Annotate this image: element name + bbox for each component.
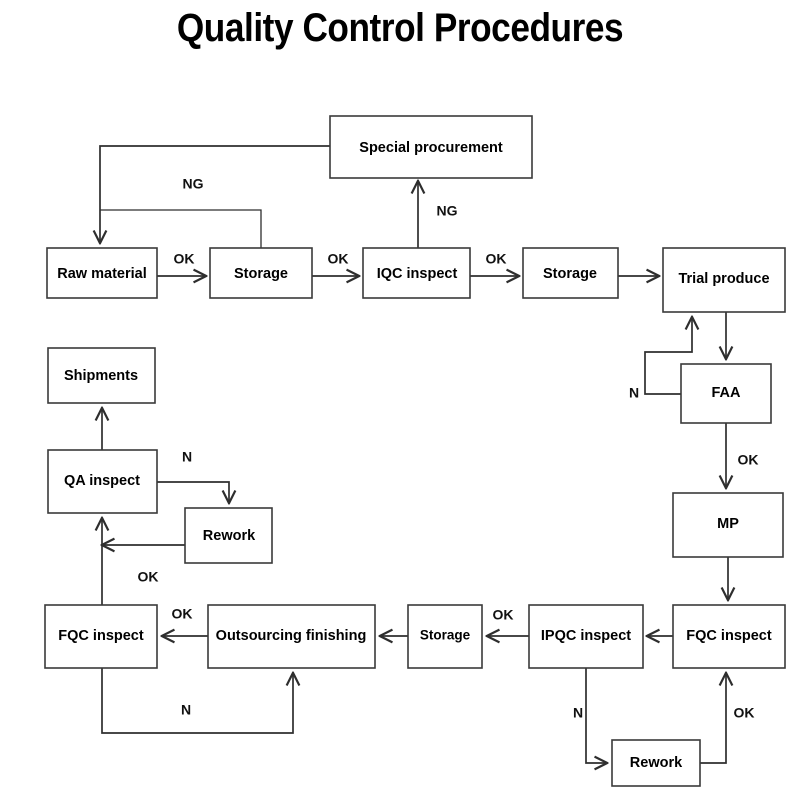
- flowchart-canvas: Special procurement Raw material Storage…: [0, 0, 800, 800]
- edge-label-ok-fqcleft-qa: OK: [138, 569, 159, 585]
- node-label-faa: FAA: [712, 385, 742, 401]
- edge-label-ok-iqc-storage2: OK: [486, 251, 507, 267]
- node-label-rework-left: Rework: [203, 528, 256, 544]
- node-label-trial-produce: Trial produce: [678, 271, 769, 287]
- node-label-ipqc-inspect: IPQC inspect: [541, 628, 631, 644]
- node-fqc-inspect-left[interactable]: FQC inspect: [45, 605, 157, 668]
- node-label-raw-material: Raw material: [57, 266, 146, 282]
- node-label-qa-inspect: QA inspect: [64, 473, 140, 489]
- node-qa-inspect[interactable]: QA inspect: [48, 450, 157, 513]
- node-special-procurement[interactable]: Special procurement: [330, 116, 532, 178]
- edge-label-n-fqcleft-outsourcing: N: [181, 702, 191, 718]
- edge-storage-to-raw-material-ng: [100, 210, 261, 248]
- node-label-shipments: Shipments: [64, 368, 138, 384]
- node-rework-left[interactable]: Rework: [185, 508, 272, 563]
- node-outsourcing-finishing[interactable]: Outsourcing finishing: [208, 605, 375, 668]
- node-storage-3[interactable]: Storage: [408, 605, 482, 668]
- node-iqc-inspect[interactable]: IQC inspect: [363, 248, 470, 298]
- node-raw-material[interactable]: Raw material: [47, 248, 157, 298]
- node-label-rework-bottom: Rework: [630, 755, 683, 771]
- node-label-special-procurement: Special procurement: [359, 140, 503, 156]
- edge-rework-to-fqc-inspect-ok: [700, 674, 726, 763]
- edge-label-ok-outsourcing-fqcleft: OK: [172, 606, 193, 622]
- node-mp[interactable]: MP: [673, 493, 783, 557]
- edge-ipqc-inspect-to-rework-n: [586, 668, 606, 763]
- edge-qa-inspect-to-rework-n: [157, 482, 229, 502]
- edge-label-n-ipqc-rework: N: [573, 705, 583, 721]
- node-shipments[interactable]: Shipments: [48, 348, 155, 403]
- node-rework-bottom[interactable]: Rework: [612, 740, 700, 786]
- node-label-fqc-inspect-left: FQC inspect: [58, 628, 144, 644]
- edge-layer: [100, 146, 728, 763]
- edge-label-n-faa-trial: N: [629, 385, 639, 401]
- edge-label-ng-iqc-special: NG: [437, 203, 458, 219]
- node-label-mp: MP: [717, 516, 739, 532]
- flowchart-page: Quality Control Procedures: [0, 0, 800, 800]
- edge-label-ng-storage-raw: NG: [183, 176, 204, 192]
- node-label-fqc-inspect-right: FQC inspect: [686, 628, 772, 644]
- edge-label-ok-faa-mp: OK: [738, 452, 759, 468]
- edge-label-ok-raw-storage: OK: [174, 251, 195, 267]
- edge-special-procurement-to-raw-material: [100, 146, 330, 242]
- node-faa[interactable]: FAA: [681, 364, 771, 423]
- edge-label-ok-ipqc-storage3: OK: [493, 607, 514, 623]
- node-label-storage-3: Storage: [420, 628, 471, 643]
- node-ipqc-inspect[interactable]: IPQC inspect: [529, 605, 643, 668]
- node-layer: Special procurement Raw material Storage…: [45, 116, 785, 786]
- node-trial-produce[interactable]: Trial produce: [663, 248, 785, 312]
- node-storage-2[interactable]: Storage: [523, 248, 618, 298]
- edge-label-ok-storage-iqc: OK: [328, 251, 349, 267]
- node-fqc-inspect-right[interactable]: FQC inspect: [673, 605, 785, 668]
- node-label-iqc-inspect: IQC inspect: [377, 266, 458, 282]
- node-label-outsourcing-finishing: Outsourcing finishing: [216, 628, 367, 644]
- node-label-storage-1: Storage: [234, 266, 288, 282]
- node-label-storage-2: Storage: [543, 266, 597, 282]
- edge-fqc-inspect-to-outsourcing-finishing-n: [102, 668, 293, 733]
- edge-label-ok-rework-fqc: OK: [734, 705, 755, 721]
- node-storage-1[interactable]: Storage: [210, 248, 312, 298]
- edge-label-n-qa-rework: N: [182, 449, 192, 465]
